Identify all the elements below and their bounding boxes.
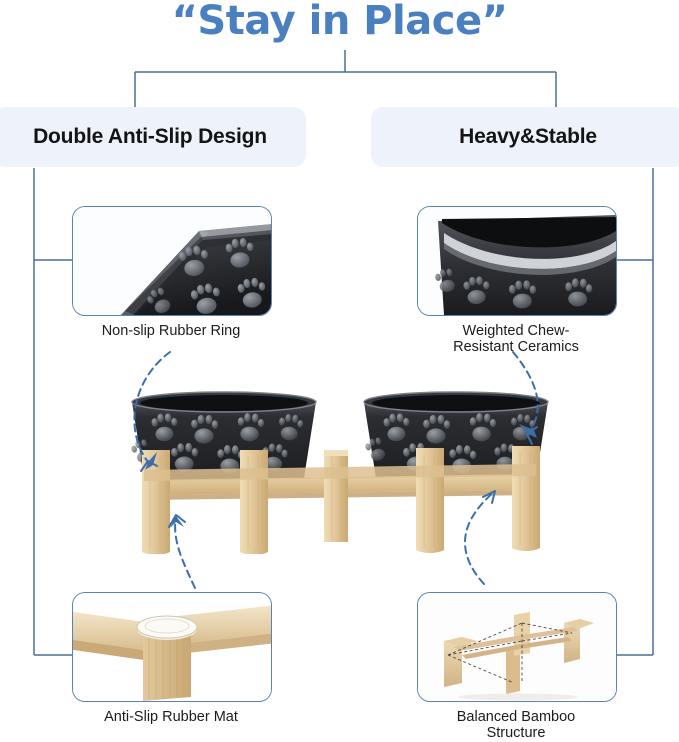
bowl-base-photo: [73, 207, 271, 315]
feature-photo-balanced-bamboo-structure: [417, 592, 617, 702]
feature-photo-anti-slip-rubber-mat: [72, 592, 272, 702]
caption-line-1: Weighted Chew-: [407, 323, 625, 339]
hero-product-image: [120, 382, 560, 554]
branch-label-anti-slip: Double Anti-Slip Design: [0, 107, 306, 167]
bamboo-leg-pad-photo: [73, 593, 271, 701]
bowl-interior-photo: [418, 207, 616, 315]
branch-label-heavy-stable: Heavy&Stable: [371, 107, 679, 167]
feature-caption-non-slip-rubber-ring: Non-slip Rubber Ring: [62, 323, 280, 339]
caption-line-2: Structure: [407, 725, 625, 741]
bamboo-frame-photo: [418, 593, 616, 701]
caption-line-2: Resistant Ceramics: [407, 339, 625, 355]
infographic-root: “Stay in Place” Double Anti-Slip Design …: [0, 0, 679, 742]
feature-caption-anti-slip-rubber-mat: Anti-Slip Rubber Mat: [62, 709, 280, 725]
caption-line-1: Balanced Bamboo: [407, 709, 625, 725]
page-title: “Stay in Place”: [0, 0, 679, 44]
feature-caption-weighted-ceramics: Weighted Chew- Resistant Ceramics: [407, 323, 625, 355]
feature-caption-balanced-bamboo-structure: Balanced Bamboo Structure: [407, 709, 625, 741]
feature-photo-weighted-ceramics: [417, 206, 617, 316]
feature-photo-non-slip-rubber-ring: [72, 206, 272, 316]
